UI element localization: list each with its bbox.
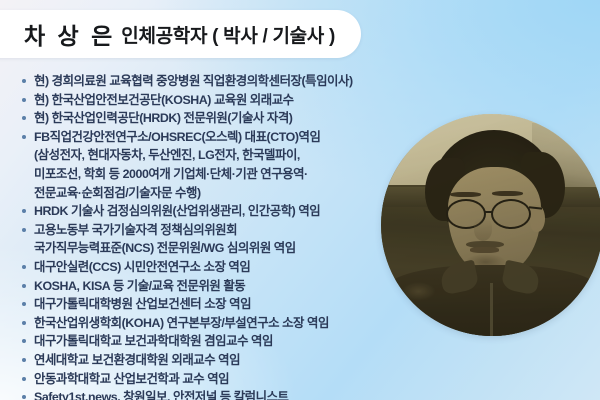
bullet-dot-icon: [22, 228, 26, 232]
list-item-lines: 연세대학교 보건환경대학원 외래교수 역임: [34, 351, 394, 370]
bullet-dot-icon: [22, 98, 26, 102]
list-item: FB직업건강안전연구소/OHSREC(오스렉) 대표(CTO)역임 (삼성전자,…: [22, 128, 394, 202]
bullet-dot-icon: [22, 377, 26, 381]
list-item-line: 대구가톨릭대학병원 산업보건센터 소장 역임: [34, 295, 394, 314]
list-item-lines: Safety1st.news, 창원일보, 안전저널 등 칼럼니스트: [34, 388, 394, 400]
list-item: 현) 한국산업인력공단(HRDK) 전문위원(기술사 자격): [22, 109, 394, 128]
list-item-line: 한국산업위생학회(KOHA) 연구본부장/부설연구소 소장 역임: [34, 314, 394, 333]
bullet-dot-icon: [22, 339, 26, 343]
avatar: [381, 114, 600, 336]
bullet-dot-icon: [22, 265, 26, 269]
list-item-line: HRDK 기술사 검정심의위원(산업위생관리, 인간공학) 역임: [34, 202, 394, 221]
list-item-line: 현) 경희의료원 교육협력 중앙병원 직업환경의학센터장(특임이사): [34, 72, 394, 91]
list-item-lines: HRDK 기술사 검정심의위원(산업위생관리, 인간공학) 역임: [34, 202, 394, 221]
list-item-lines: 대구가톨릭대학병원 산업보건센터 소장 역임: [34, 295, 394, 314]
list-item-line: 안동과학대학교 산업보건학과 교수 역임: [34, 370, 394, 389]
bullet-dot-icon: [22, 284, 26, 288]
list-item-lines: 현) 한국산업인력공단(HRDK) 전문위원(기술사 자격): [34, 109, 394, 128]
list-item-lines: 대구안실련(CCS) 시민안전연구소 소장 역임: [34, 258, 394, 277]
list-item-line: 국가직무능력표준(NCS) 전문위원/WG 심의위원 역임: [34, 239, 394, 258]
list-item: KOSHA, KISA 등 기술/교육 전문위원 활동: [22, 277, 394, 296]
bullet-dot-icon: [22, 79, 26, 83]
list-item-line: 현) 한국산업안전보건공단(KOSHA) 교육원 외래교수: [34, 91, 394, 110]
list-item-lines: 고용노동부 국가기술자격 정책심의위원회 국가직무능력표준(NCS) 전문위원/…: [34, 221, 394, 258]
list-item-lines: FB직업건강안전연구소/OHSREC(오스렉) 대표(CTO)역임 (삼성전자,…: [34, 128, 394, 202]
list-item: 현) 경희의료원 교육협력 중앙병원 직업환경의학센터장(특임이사): [22, 72, 394, 91]
bullet-dot-icon: [22, 116, 26, 120]
page-title-role: 인체공학자 ( 박사 / 기술사 ): [121, 21, 335, 48]
list-item: Safety1st.news, 창원일보, 안전저널 등 칼럼니스트: [22, 388, 394, 400]
bullet-dot-icon: [22, 302, 26, 306]
bullet-dot-icon: [22, 358, 26, 362]
list-item-line: KOSHA, KISA 등 기술/교육 전문위원 활동: [34, 277, 394, 296]
bullet-dot-icon: [22, 209, 26, 213]
list-item-lines: 현) 경희의료원 교육협력 중앙병원 직업환경의학센터장(특임이사): [34, 72, 394, 91]
list-item-line: 고용노동부 국가기술자격 정책심의위원회: [34, 221, 394, 240]
bio-list: 현) 경희의료원 교육협력 중앙병원 직업환경의학센터장(특임이사) 현) 한국…: [22, 72, 394, 400]
bullet-dot-icon: [22, 135, 26, 139]
list-item-lines: 안동과학대학교 산업보건학과 교수 역임: [34, 370, 394, 389]
list-item-line: FB직업건강안전연구소/OHSREC(오스렉) 대표(CTO)역임: [34, 128, 394, 147]
list-item: 고용노동부 국가기술자격 정책심의위원회 국가직무능력표준(NCS) 전문위원/…: [22, 221, 394, 258]
list-item-lines: 한국산업위생학회(KOHA) 연구본부장/부설연구소 소장 역임: [34, 314, 394, 333]
photo-sepia-overlay: [381, 114, 600, 336]
list-item-line: 연세대학교 보건환경대학원 외래교수 역임: [34, 351, 394, 370]
list-item: 대구가톨릭대학교 보건과학대학원 겸임교수 역임: [22, 332, 394, 351]
list-item-line: Safety1st.news, 창원일보, 안전저널 등 칼럼니스트: [34, 388, 394, 400]
list-item: 한국산업위생학회(KOHA) 연구본부장/부설연구소 소장 역임: [22, 314, 394, 333]
list-item-line: 대구안실련(CCS) 시민안전연구소 소장 역임: [34, 258, 394, 277]
list-item-line: 미포조선, 학회 등 2000여개 기업체·단체·기관 연구용역·: [34, 165, 394, 184]
list-item: 대구안실련(CCS) 시민안전연구소 소장 역임: [22, 258, 394, 277]
bullet-dot-icon: [22, 395, 26, 399]
list-item-lines: 현) 한국산업안전보건공단(KOSHA) 교육원 외래교수: [34, 91, 394, 110]
list-item-lines: 대구가톨릭대학교 보건과학대학원 겸임교수 역임: [34, 332, 394, 351]
list-item: 대구가톨릭대학병원 산업보건센터 소장 역임: [22, 295, 394, 314]
title-pill: 차 상 은 인체공학자 ( 박사 / 기술사 ): [0, 10, 361, 58]
list-item-line: 전문교육·순회점검/기술자문 수행): [34, 184, 394, 203]
list-item-line: (삼성전자, 현대자동차, 두산엔진, LG전자, 한국델파이,: [34, 146, 394, 165]
list-item-line: 대구가톨릭대학교 보건과학대학원 겸임교수 역임: [34, 332, 394, 351]
bullet-dot-icon: [22, 321, 26, 325]
list-item-lines: KOSHA, KISA 등 기술/교육 전문위원 활동: [34, 277, 394, 296]
list-item-line: 현) 한국산업인력공단(HRDK) 전문위원(기술사 자격): [34, 109, 394, 128]
list-item: 현) 한국산업안전보건공단(KOSHA) 교육원 외래교수: [22, 91, 394, 110]
list-item: 안동과학대학교 산업보건학과 교수 역임: [22, 370, 394, 389]
page-title-name: 차 상 은: [24, 17, 115, 51]
list-item: HRDK 기술사 검정심의위원(산업위생관리, 인간공학) 역임: [22, 202, 394, 221]
profile-slide: 차 상 은 인체공학자 ( 박사 / 기술사 ) 현) 경희의료원 교육협력 중…: [0, 0, 600, 400]
list-item: 연세대학교 보건환경대학원 외래교수 역임: [22, 351, 394, 370]
